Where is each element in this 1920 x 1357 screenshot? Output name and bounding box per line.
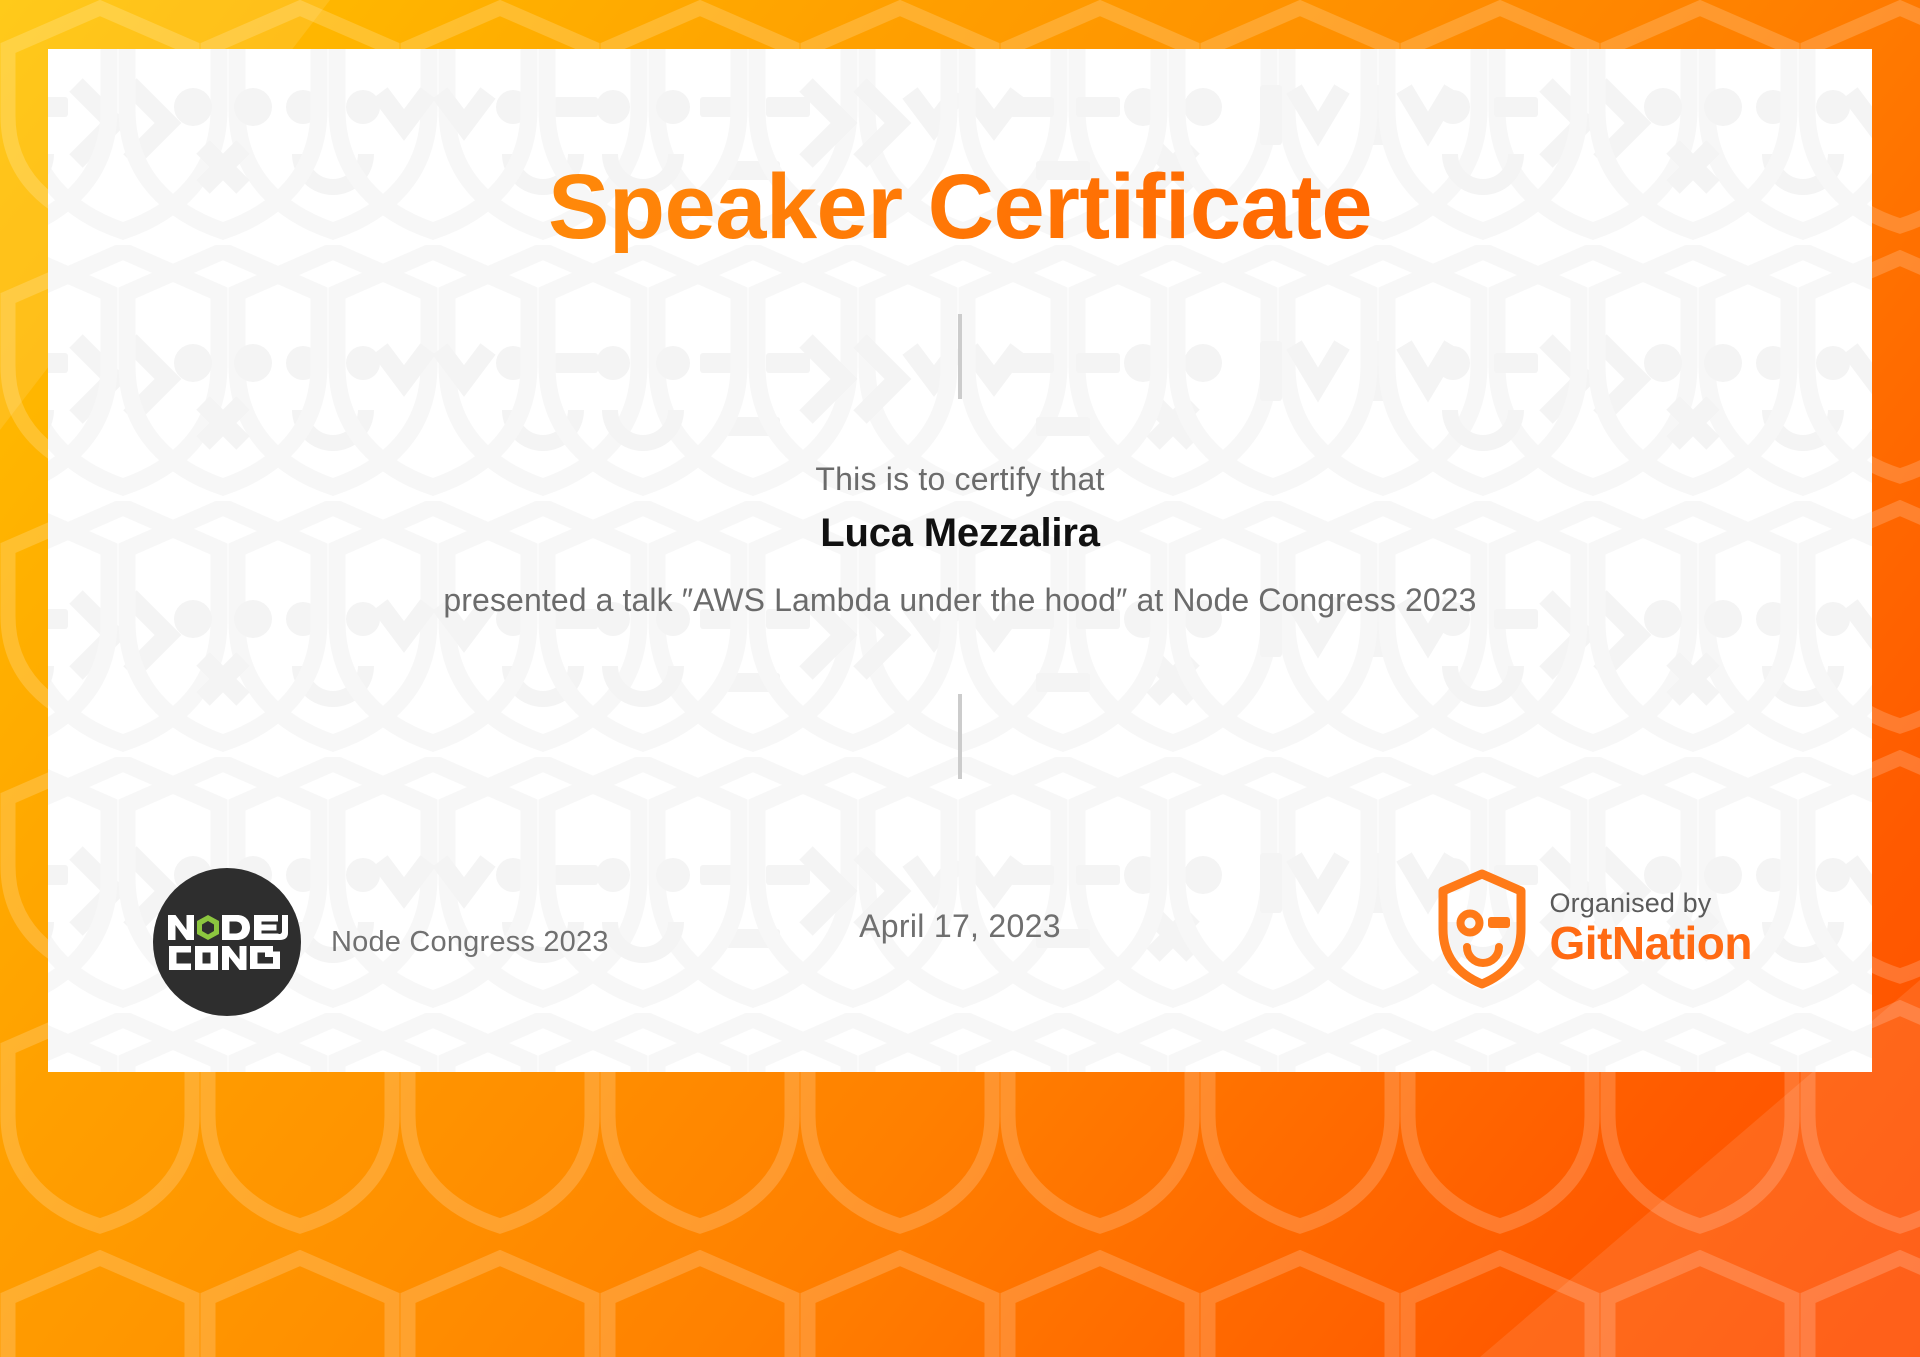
organiser-text: Organised by GitNation — [1550, 888, 1752, 970]
page-title: Speaker Certificate — [48, 161, 1872, 253]
gitnation-shield-icon — [1436, 868, 1528, 990]
organiser-block: Organised by GitNation — [1436, 868, 1752, 990]
gitnation-wordmark: GitNation — [1550, 918, 1752, 970]
speaker-certificate: Speaker Certificate This is to certify t… — [0, 0, 1920, 1357]
organised-by-label: Organised by — [1550, 888, 1752, 918]
divider-top — [958, 314, 962, 399]
divider-bottom — [958, 694, 962, 779]
certificate-panel: Speaker Certificate This is to certify t… — [48, 49, 1872, 1072]
recipient-name: Luca Mezzalira — [48, 511, 1872, 556]
certificate-footer: Node Congress 2023 April 17, 2023 Organi… — [48, 812, 1872, 1072]
certify-line: This is to certify that — [48, 461, 1872, 498]
talk-description: presented a talk ″AWS Lambda under the h… — [48, 582, 1872, 619]
